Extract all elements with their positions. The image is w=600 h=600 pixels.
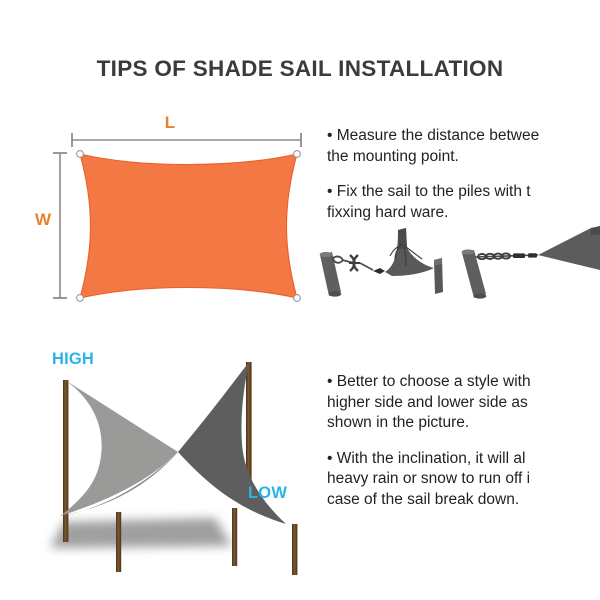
low-side-label: LOW — [248, 485, 287, 502]
ground-shadow — [50, 518, 232, 548]
length-dimension-line — [72, 133, 301, 147]
tip-line-3: • Fix the sail to the piles with t — [327, 182, 539, 203]
chain-icon — [475, 253, 538, 259]
carabiner-icon — [333, 256, 343, 262]
triangular-sail-corner — [538, 226, 600, 270]
sail-body — [80, 154, 297, 298]
hypar-sail-svg — [20, 340, 320, 575]
post-mid-right — [232, 508, 237, 566]
dimension-label-length: L — [20, 114, 320, 131]
tip-line-1: • Measure the distance betwee — [327, 126, 539, 147]
bottom-tips-text-block: • Better to choose a style with higher s… — [327, 372, 531, 511]
paragraph-gap — [327, 167, 539, 182]
tip-line-7: shown in the picture. — [327, 413, 531, 434]
post-chain-sail-corner-assembly — [462, 226, 600, 299]
dimension-label-width: W — [30, 211, 56, 228]
high-side-label: HIGH — [52, 351, 94, 368]
tip-line-6: higher side and lower side as — [327, 393, 531, 414]
hardware-illustrations — [310, 222, 600, 317]
tip-line-10: case of the sail break down. — [327, 490, 531, 511]
sail-left-panel — [60, 380, 178, 516]
tip-line-2: the mounting point. — [327, 147, 539, 168]
tip-line-5: • Better to choose a style with — [327, 372, 531, 393]
post-front-left — [116, 512, 121, 572]
sail-svg — [20, 110, 320, 320]
paragraph-gap-2 — [327, 434, 531, 449]
tips-infographic-page: TIPS OF SHADE SAIL INSTALLATION L W — [0, 0, 600, 600]
post-turnbuckle-sail-corner-assembly — [320, 228, 443, 297]
post-back-left — [63, 380, 68, 542]
post-front-right — [292, 524, 297, 575]
top-tips-text-block: • Measure the distance betwee the mounti… — [327, 126, 539, 223]
tip-line-8: • With the inclination, it will al — [327, 449, 531, 470]
page-title: TIPS OF SHADE SAIL INSTALLATION — [0, 56, 600, 82]
sail-corner-plate — [373, 228, 443, 294]
hardware-svg — [310, 222, 600, 317]
rectangular-shade-sail-diagram: L W — [20, 110, 320, 320]
tip-line-9: heavy rain or snow to run off i — [327, 469, 531, 490]
hypar-shade-sail-diagram: HIGH LOW — [20, 340, 320, 575]
tip-line-4: fixxing hard ware. — [327, 203, 539, 224]
post-icon — [320, 252, 342, 297]
turnbuckle-icon — [342, 255, 373, 271]
